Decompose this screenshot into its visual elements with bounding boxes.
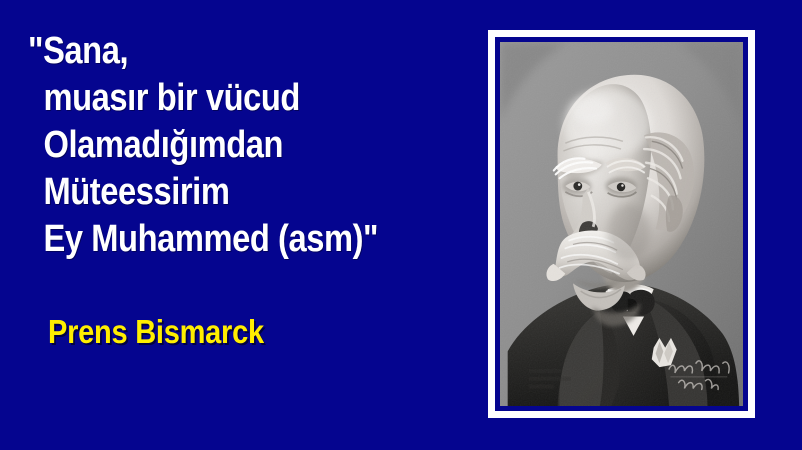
quote-line-2: muasır bir vücud — [28, 75, 415, 122]
quote-poster: "Sana, muasır bir vücud Olamadığımdan Mü… — [0, 0, 802, 450]
attribution: Prens Bismarck — [48, 313, 293, 351]
quote-line-1: "Sana, — [28, 28, 415, 75]
quote-block: "Sana, muasır bir vücud Olamadığımdan Mü… — [28, 28, 478, 263]
quote-line-3: Olamadığımdan — [28, 122, 415, 169]
quote-line-4: Müteessirim — [28, 169, 415, 216]
attribution-name: Prens Bismarck — [48, 313, 264, 351]
portrait-photo-container — [500, 42, 743, 406]
portrait-frame — [488, 30, 755, 418]
quote-line-5: Ey Muhammed (asm)" — [28, 216, 415, 263]
bismarck-portrait-photo — [500, 42, 743, 406]
